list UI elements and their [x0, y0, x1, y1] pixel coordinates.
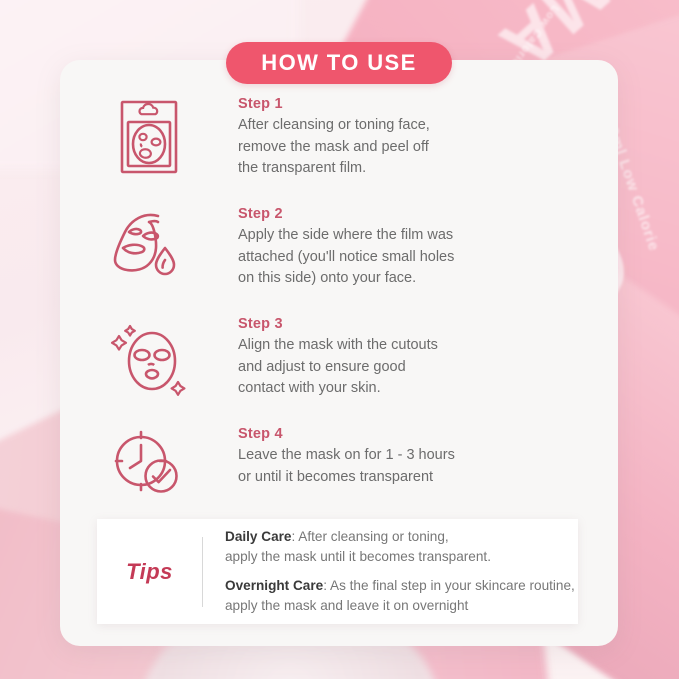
tip-second-line: apply the mask and leave it on overnight [225, 596, 578, 616]
tip-heading-line: Overnight Care: As the final step in you… [225, 576, 578, 596]
step-text: Step 1 After cleansing or toning face, r… [238, 96, 538, 180]
step-label: Step 3 [238, 316, 538, 332]
step-body: Align the mask with the cutouts and adju… [238, 335, 538, 400]
step-item: Step 1 After cleansing or toning face, r… [60, 96, 618, 206]
tip-second-line: apply the mask until it becomes transpar… [225, 547, 578, 567]
step-label: Step 1 [238, 96, 538, 112]
tip-title: Overnight Care [225, 578, 323, 593]
step-icon-wrapper [60, 426, 238, 498]
step-body: Leave the mask on for 1 - 3 hours or unt… [238, 445, 538, 488]
tip-item: Daily Care: After cleansing or toning, a… [225, 527, 578, 567]
step-icon-wrapper [60, 206, 238, 282]
step-text: Step 2 Apply the side where the film was… [238, 206, 538, 290]
step-label: Step 4 [238, 426, 538, 442]
how-to-use-badge: HOW TO USE [226, 42, 452, 84]
step-item: Step 2 Apply the side where the film was… [60, 206, 618, 316]
step-item: Step 3 Align the mask with the cutouts a… [60, 316, 618, 426]
clock-check-icon [112, 428, 186, 498]
tip-title: Daily Care [225, 529, 292, 544]
tip-lead: : After cleansing or toning, [292, 529, 449, 544]
tips-body: Daily Care: After cleansing or toning, a… [203, 527, 578, 616]
step-icon-wrapper [60, 96, 238, 176]
steps-list: Step 1 After cleansing or toning face, r… [60, 96, 618, 536]
tips-label: Tips [97, 559, 202, 585]
sheet-mask-droplet-icon [111, 210, 187, 282]
step-body: Apply the side where the film was attach… [238, 225, 538, 290]
tips-panel: Tips Daily Care: After cleansing or toni… [97, 519, 578, 624]
step-text: Step 3 Align the mask with the cutouts a… [238, 316, 538, 400]
step-label: Step 2 [238, 206, 538, 222]
step-body: After cleansing or toning face, remove t… [238, 115, 538, 180]
how-to-use-badge-label: HOW TO USE [261, 50, 416, 76]
tip-lead: : As the final step in your skincare rou… [323, 578, 575, 593]
tip-item: Overnight Care: As the final step in you… [225, 576, 578, 616]
tip-heading-line: Daily Care: After cleansing or toning, [225, 527, 578, 547]
mask-sachet-icon [118, 98, 180, 176]
face-mask-sparkle-icon [110, 320, 188, 400]
step-icon-wrapper [60, 316, 238, 400]
step-text: Step 4 Leave the mask on for 1 - 3 hours… [238, 426, 538, 488]
